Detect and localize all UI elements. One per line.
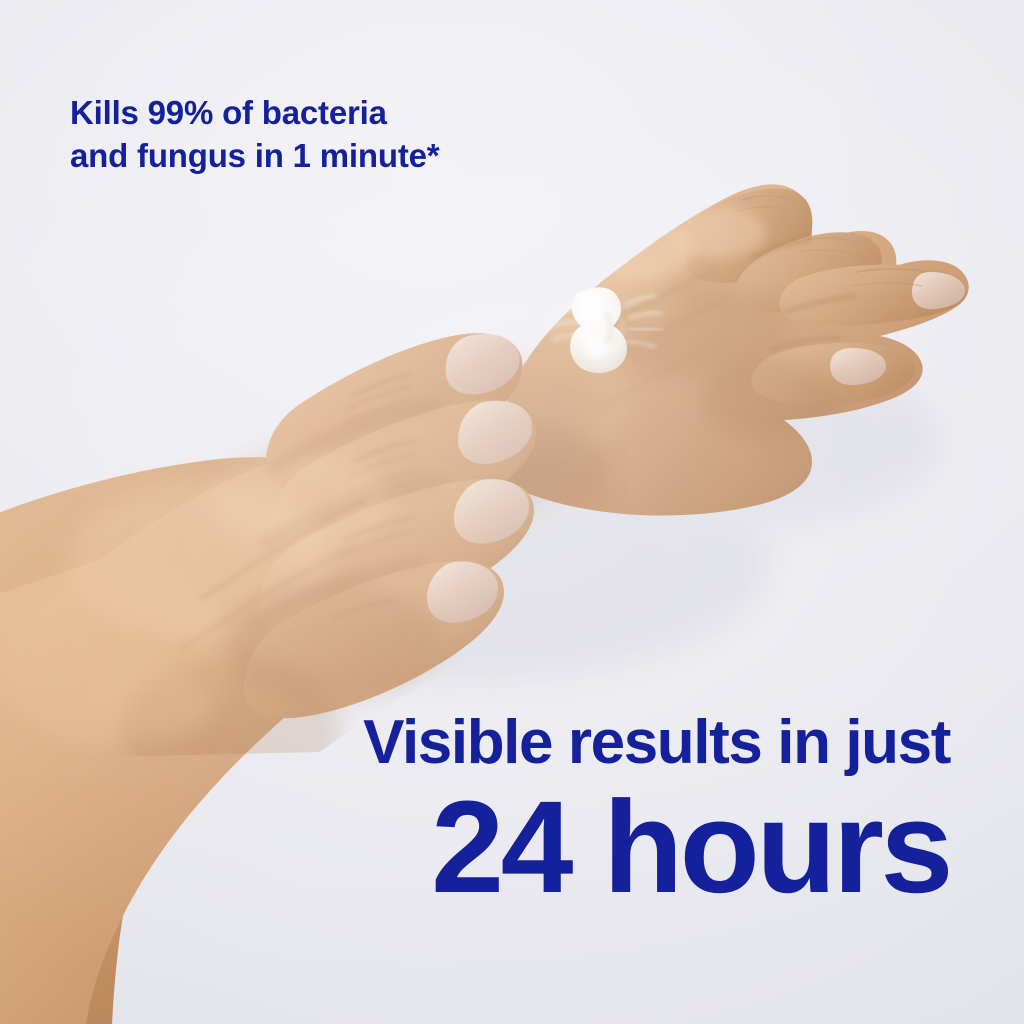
claim-text: Kills 99% of bacteria and fungus in 1 mi… — [70, 92, 439, 178]
headline-line-2: 24 hours — [363, 780, 950, 914]
headline-block: Visible results in just 24 hours — [363, 712, 950, 914]
hand-front — [0, 333, 607, 1024]
promo-image: Kills 99% of bacteria and fungus in 1 mi… — [0, 0, 1024, 1024]
headline-line-1: Visible results in just — [363, 712, 950, 774]
